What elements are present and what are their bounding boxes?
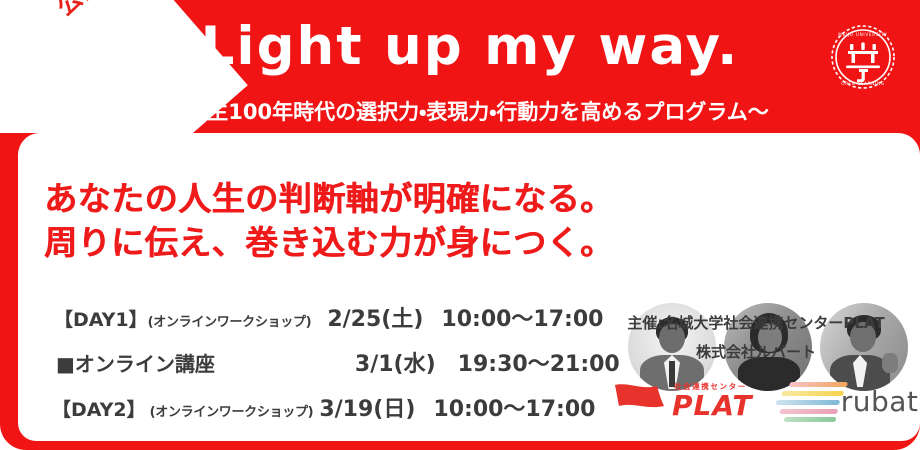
svg-text:MEIJO UNIVERSITY: MEIJO UNIVERSITY bbox=[838, 32, 887, 37]
flag-icon bbox=[612, 383, 670, 413]
schedule-label: 【DAY2】 bbox=[52, 395, 146, 422]
header-band: 名城大学 公開講座 Light up my way. 〜人生100年時代の選択力… bbox=[0, 0, 920, 141]
schedule-time: 10:00〜17:00 bbox=[441, 301, 603, 333]
schedule-date: 3/19(日) bbox=[319, 391, 415, 423]
ribbon-line-2: 公開講座 bbox=[53, 0, 145, 21]
rubato-logo: rubato bbox=[776, 380, 920, 422]
sponsor-logos: 社会連携センター PLAT rubato bbox=[612, 379, 920, 423]
schedule-time: 10:00〜17:00 bbox=[433, 391, 595, 423]
schedule-date: 3/1(水) bbox=[355, 346, 436, 378]
schedule-row: 【DAY1】 (オンラインワークショップ) 2/25(土) 10:00〜17:0… bbox=[40, 301, 600, 346]
schedule-note: (オンラインワークショップ) bbox=[148, 311, 312, 330]
stripe bbox=[779, 409, 838, 414]
schedule-time: 19:30〜21:00 bbox=[458, 346, 620, 378]
schedule-label: 【DAY1】 bbox=[54, 305, 148, 332]
headline: あなたの人生の判断軸が明確になる。 周りに伝え、巻き込む力が身につく。 bbox=[44, 177, 614, 264]
schedule-note: (オンラインワークショップ) bbox=[150, 401, 314, 420]
stripe bbox=[789, 382, 848, 387]
schedule-date: 2/25(土) bbox=[327, 301, 423, 333]
body-content: あなたの人生の判断軸が明確になる。 周りに伝え、巻き込む力が身につく。 bbox=[18, 133, 920, 441]
university-seal-icon: MEIJO UNIVERSITY OPEN LEARNING bbox=[828, 22, 898, 92]
rubato-wordmark: rubato bbox=[841, 385, 920, 418]
page-subtitle: 〜人生100年時代の選択力・表現力・行動力を高めるプログラム〜 bbox=[0, 102, 920, 123]
stripe bbox=[781, 391, 844, 396]
organizer-line-1: 主催:名城大学社会連携センターPLAT bbox=[606, 309, 906, 338]
plat-wordmark: PLAT bbox=[672, 389, 752, 422]
organizer-line-2: 株式会社ルバート bbox=[606, 338, 906, 367]
organizer-info: 主催:名城大学社会連携センターPLAT 株式会社ルバート bbox=[606, 309, 906, 366]
stripe bbox=[784, 417, 837, 422]
stripes-icon bbox=[772, 381, 841, 421]
plat-logo: 社会連携センター PLAT bbox=[612, 379, 762, 423]
schedule-row: 【DAY2】 (オンラインワークショップ) 3/19(日) 10:00〜17:0… bbox=[40, 391, 600, 436]
headline-line-1: あなたの人生の判断軸が明確になる。 bbox=[44, 177, 614, 221]
body-frame: あなたの人生の判断軸が明確になる。 周りに伝え、巻き込む力が身につく。 bbox=[0, 133, 920, 450]
schedule-list: 【DAY1】 (オンラインワークショップ) 2/25(土) 10:00〜17:0… bbox=[40, 301, 600, 436]
schedule-row: ■オンライン講座 3/1(水) 19:30〜21:00 bbox=[40, 346, 600, 391]
poster: 名城大学 公開講座 Light up my way. 〜人生100年時代の選択力… bbox=[0, 0, 920, 450]
schedule-label: ■オンライン講座 bbox=[56, 348, 215, 377]
page-title: Light up my way. bbox=[0, 20, 920, 73]
stripe bbox=[775, 400, 840, 405]
headline-line-2: 周りに伝え、巻き込む力が身につく。 bbox=[44, 221, 614, 265]
